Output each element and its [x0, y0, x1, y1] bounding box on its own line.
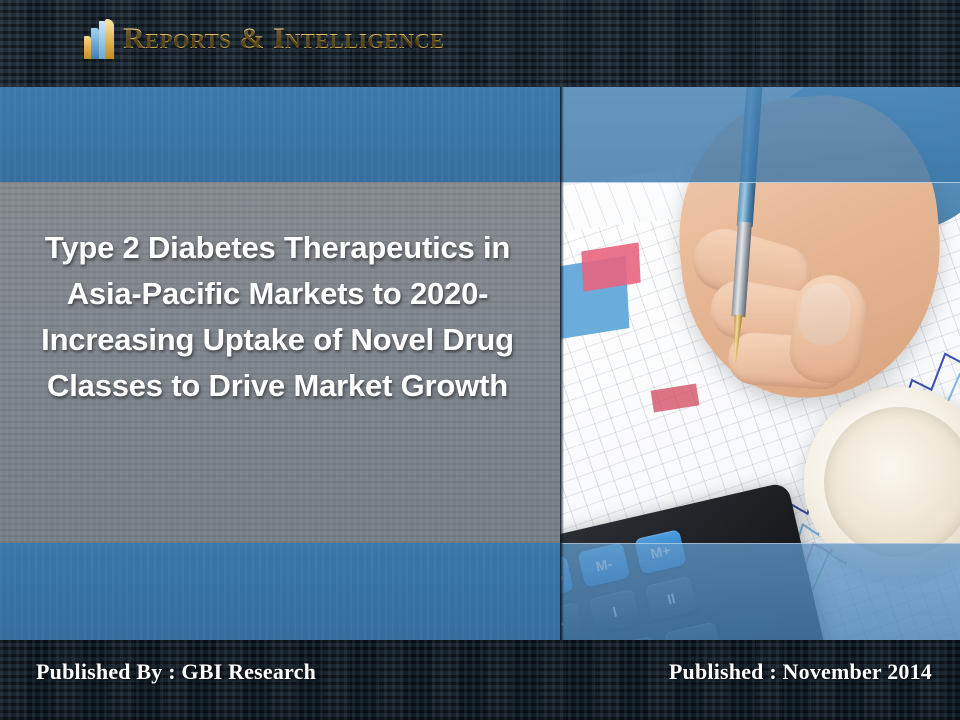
cover-photo: MRC M- M+ ·|· I II × + − 9 6 3	[560, 87, 960, 640]
photo-overlay-bottom	[560, 543, 960, 640]
brand-logo[interactable]: Reports & Intelligence	[84, 19, 445, 59]
title-line: Classes to Drive Market Growth	[14, 363, 541, 409]
publisher-label: Published By : GBI Research	[36, 659, 316, 685]
title-line: Type 2 Diabetes Therapeutics in	[14, 225, 541, 271]
page-title: Type 2 Diabetes Therapeutics in Asia-Pac…	[0, 225, 555, 409]
photo-scene: MRC M- M+ ·|· I II × + − 9 6 3	[560, 87, 960, 640]
published-date-label: Published : November 2014	[669, 659, 932, 685]
photo-overlay-top	[560, 87, 960, 183]
bar-chart-logo-icon	[84, 19, 114, 59]
title-line: Increasing Uptake of Novel Drug	[14, 317, 541, 363]
page-footer: Published By : GBI Research Published : …	[0, 640, 960, 720]
accent-band-bottom	[0, 543, 560, 640]
brand-name: Reports & Intelligence	[123, 22, 445, 56]
photo-left-edge	[560, 87, 564, 640]
page-header: Reports & Intelligence	[0, 0, 960, 87]
cover-page: Reports & Intelligence Type 2 Diabetes T…	[0, 0, 960, 720]
accent-band-top	[0, 87, 560, 182]
title-line: Asia-Pacific Markets to 2020-	[14, 271, 541, 317]
